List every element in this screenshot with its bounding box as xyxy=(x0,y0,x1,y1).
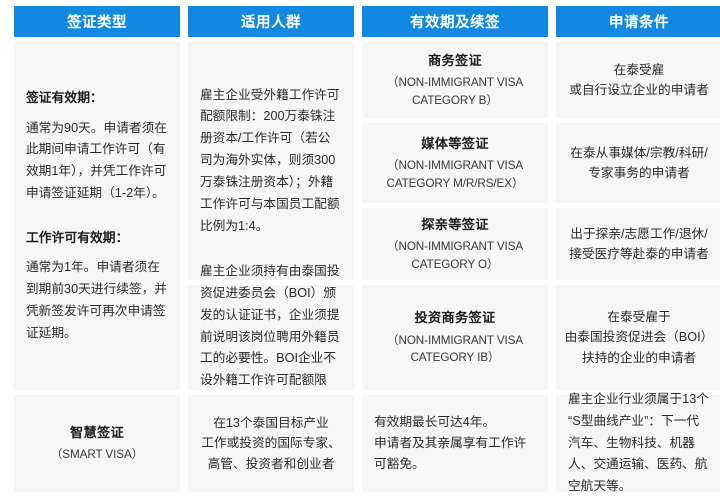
visa-code: （SMART VISA） xyxy=(51,446,144,464)
table-cell-visa-type: 商务签证 （NON-IMMIGRANT VISA CATEGORY B） xyxy=(362,42,548,118)
header-label: 适用人群 xyxy=(241,11,301,32)
conditions-smart-text: 雇主企业行业须属于13个 “S型曲线产业”：下一代汽车、生物科技、机器人、交通运… xyxy=(568,389,710,498)
audience-text: 在泰受雇于 由泰国投资促进会（BOI） 扶持的企业的申请者 xyxy=(565,307,714,368)
table-cell-visa-type: 智慧签证 （SMART VISA） xyxy=(14,395,180,492)
table-grid: 签证类型 适用人群 有效期及续签 申请条件 商务签证 （NON-IMMIGRAN… xyxy=(14,6,706,492)
table-cell-visa-type: 投资商务签证 （NON-IMMIGRANT VISA CATEGORY IB） xyxy=(362,285,548,390)
conditions-boi-text: 雇主企业须持有由泰国投资促进委员会（BOI）颁发的认证证书，企业须提前说明该岗位… xyxy=(200,261,342,414)
table-cell-conditions-boi: 雇主企业须持有由泰国投资促进委员会（BOI）颁发的认证证书，企业须提前说明该岗位… xyxy=(188,285,354,390)
audience-text: 在泰受雇 或自行设立企业的申请者 xyxy=(569,60,709,101)
visa-comparison-table: 签证类型 适用人群 有效期及续签 申请条件 商务签证 （NON-IMMIGRAN… xyxy=(0,0,720,499)
validity-visa-heading: 签证有效期： xyxy=(26,87,168,108)
audience-text: 在泰从事媒体/宗教/科研/ 专家事务的申请者 xyxy=(570,143,707,184)
table-cell-target-group: 在泰受雇于 由泰国投资促进会（BOI） 扶持的企业的申请者 xyxy=(556,285,720,390)
table-cell-conditions-business: 雇主企业受外籍工作许可配额限制：200万泰铢注册资本/工作许可（若公司为海外实体… xyxy=(188,42,354,280)
table-cell-target-group: 在泰受雇 或自行设立企业的申请者 xyxy=(556,42,720,118)
validity-smart-text: 有效期最长可达4年。 申请者及其亲属享有工作许可豁免。 xyxy=(374,412,536,476)
validity-visa-body: 通常为90天。申请者须在此期间申请工作许可（有效期1年），并凭工作许可申请签证延… xyxy=(26,118,168,205)
table-cell-target-group: 出于探亲/志愿工作/退休/ 接受医疗等赴泰的申请者 xyxy=(556,208,720,280)
visa-code: （NON-IMMIGRANT VISA CATEGORY B） xyxy=(370,74,540,109)
column-header-target-group: 适用人群 xyxy=(188,6,354,37)
visa-name: 智慧签证 xyxy=(70,423,124,443)
table-cell-conditions-smart: 雇主企业行业须属于13个 “S型曲线产业”：下一代汽车、生物科技、机器人、交通运… xyxy=(556,395,720,492)
validity-permit-block: 工作许可有效期： 通常为1年。申请者须在到期前30天进行续签，并凭新签发许可再次… xyxy=(26,227,168,345)
column-header-visa-type: 签证类型 xyxy=(14,6,180,37)
conditions-business-text: 雇主企业受外籍工作许可配额限制：200万泰铢注册资本/工作许可（若公司为海外实体… xyxy=(200,85,342,238)
table-cell-target-group: 在13个泰国目标产业 工作或投资的国际专家、 高管、投资者和创业者 xyxy=(188,395,354,492)
visa-code: （NON-IMMIGRANT VISA CATEGORY O） xyxy=(370,238,540,273)
header-label: 签证类型 xyxy=(67,11,127,32)
table-cell-validity-smart: 有效期最长可达4年。 申请者及其亲属享有工作许可豁免。 xyxy=(362,395,548,492)
column-header-application-conditions: 申请条件 xyxy=(556,6,720,37)
visa-name: 商务签证 xyxy=(428,51,482,71)
visa-name: 媒体等签证 xyxy=(421,134,488,154)
header-label: 有效期及续签 xyxy=(410,11,500,32)
visa-code: （NON-IMMIGRANT VISA CATEGORY M/R/RS/EX） xyxy=(370,157,540,192)
validity-permit-body: 通常为1年。申请者须在到期前30天进行续签，并凭新签发许可再次申请签证延期。 xyxy=(26,257,168,344)
visa-name: 探亲等签证 xyxy=(421,215,488,235)
audience-text: 在13个泰国目标产业 工作或投资的国际专家、 高管、投资者和创业者 xyxy=(201,413,341,474)
validity-permit-heading: 工作许可有效期： xyxy=(26,227,168,248)
visa-code: （NON-IMMIGRANT VISA CATEGORY IB） xyxy=(370,332,540,367)
table-cell-visa-type: 探亲等签证 （NON-IMMIGRANT VISA CATEGORY O） xyxy=(362,208,548,280)
visa-name: 投资商务签证 xyxy=(415,308,496,328)
audience-text: 出于探亲/志愿工作/退休/ 接受医疗等赴泰的申请者 xyxy=(569,224,709,265)
table-cell-validity-merged: 签证有效期： 通常为90天。申请者须在此期间申请工作许可（有效期1年），并凭工作… xyxy=(14,42,180,390)
table-cell-visa-type: 媒体等签证 （NON-IMMIGRANT VISA CATEGORY M/R/R… xyxy=(362,123,548,203)
validity-visa-block: 签证有效期： 通常为90天。申请者须在此期间申请工作许可（有效期1年），并凭工作… xyxy=(26,87,168,205)
table-cell-target-group: 在泰从事媒体/宗教/科研/ 专家事务的申请者 xyxy=(556,123,720,203)
header-label: 申请条件 xyxy=(609,11,669,32)
column-header-validity-renewal: 有效期及续签 xyxy=(362,6,548,37)
